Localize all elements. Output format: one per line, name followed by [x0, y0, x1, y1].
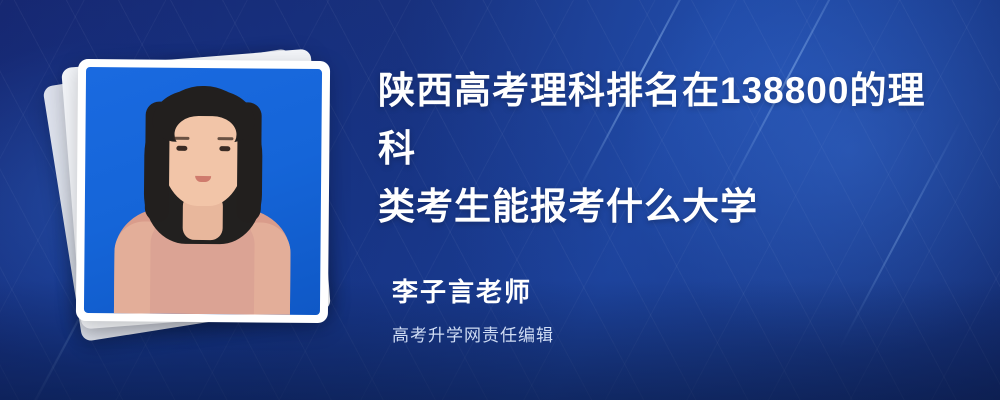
portrait-eyebrow-left: [173, 137, 189, 140]
portrait-hair-fringe: [152, 90, 254, 143]
portrait-photo-stack: [55, 48, 355, 348]
portrait-shoulder-right: [250, 222, 291, 314]
headline-line-2: 类考生能报考什么大学: [378, 178, 958, 236]
portrait-eyebrow-right: [217, 137, 233, 140]
headline-line-1: 陕西高考理科排名在138800的理科: [378, 62, 958, 178]
portrait-eye-right: [219, 146, 230, 151]
headline-block: 陕西高考理科排名在138800的理科 类考生能报考什么大学: [378, 62, 958, 236]
portrait-shoulder-left: [114, 221, 155, 313]
photo-card-front: [76, 59, 330, 323]
author-role: 高考升学网责任编辑: [392, 321, 952, 346]
author-name: 李子言老师: [392, 272, 952, 309]
portrait-eye-left: [176, 146, 187, 151]
author-block: 李子言老师 高考升学网责任编辑: [392, 272, 952, 346]
portrait-photo: [84, 67, 322, 315]
article-cover-banner: 陕西高考理科排名在138800的理科 类考生能报考什么大学 李子言老师 高考升学…: [0, 0, 1000, 400]
